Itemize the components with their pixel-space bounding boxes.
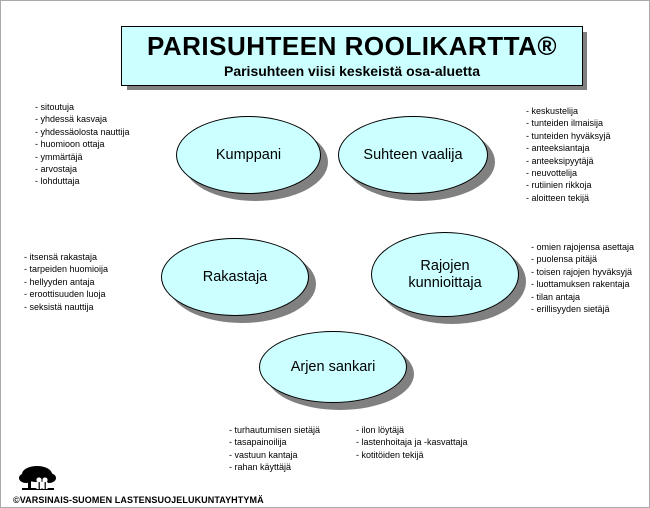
- node-body: Rajojen kunnioittaja: [371, 232, 519, 317]
- list-item: - hellyyden antaja: [24, 276, 108, 288]
- node-kumppani[interactable]: Kumppani: [176, 116, 321, 194]
- list-item: - rahan käyttäjä: [229, 461, 320, 473]
- node-body: Kumppani: [176, 116, 321, 194]
- list-item: - yhdessäolosta nauttija: [35, 126, 130, 138]
- node-rakastaja[interactable]: Rakastaja: [161, 238, 309, 316]
- attribute-list-suhteen-vaalija: - keskustelija- tunteiden ilmaisija- tun…: [526, 105, 611, 204]
- node-suhteen-vaalija[interactable]: Suhteen vaalija: [338, 116, 488, 194]
- list-item: - rutiinien rikkoja: [526, 179, 611, 191]
- title-banner: PARISUHTEEN ROOLIKARTTA® Parisuhteen vii…: [121, 26, 583, 86]
- list-item: - kotitöiden tekijä: [356, 449, 468, 461]
- list-item: - lohduttaja: [35, 175, 130, 187]
- node-body: Rakastaja: [161, 238, 309, 316]
- list-item: - anteeksiantaja: [526, 142, 611, 154]
- list-item: - seksistä nauttija: [24, 301, 108, 313]
- list-item: - ilon löytäjä: [356, 424, 468, 436]
- node-label: Kumppani: [216, 147, 281, 164]
- list-item: - toisen rajojen hyväksyjä: [531, 266, 634, 278]
- page-title: PARISUHTEEN ROOLIKARTTA®: [147, 33, 557, 60]
- list-item: - anteeksipyytäjä: [526, 155, 611, 167]
- attribute-list-rakastaja: - itsensä rakastaja- tarpeiden huomioija…: [24, 251, 108, 313]
- attribute-list-arjen-sankari-col1: - turhautumisen sietäjä- tasapainoilija-…: [229, 424, 320, 474]
- attribute-list-rajojen-kunnioittaja: - omien rajojensa asettaja- puolensa pit…: [531, 241, 634, 315]
- list-item: - luottamuksen rakentaja: [531, 278, 634, 290]
- node-arjen-sankari[interactable]: Arjen sankari: [259, 331, 407, 403]
- node-rajojen-kunnioittaja[interactable]: Rajojen kunnioittaja: [371, 232, 519, 317]
- list-item: - turhautumisen sietäjä: [229, 424, 320, 436]
- list-item: - puolensa pitäjä: [531, 253, 634, 265]
- tree-family-logo-icon: [17, 465, 59, 493]
- list-item: - keskustelija: [526, 105, 611, 117]
- list-item: - yhdessä kasvaja: [35, 113, 130, 125]
- list-item: - tunteiden hyväksyjä: [526, 130, 611, 142]
- list-item: - erillisyyden sietäjä: [531, 303, 634, 315]
- page-subtitle: Parisuhteen viisi keskeistä osa-aluetta: [224, 63, 480, 79]
- node-body: Arjen sankari: [259, 331, 407, 403]
- list-item: - lastenhoitaja ja -kasvattaja: [356, 436, 468, 448]
- list-item: - tilan antaja: [531, 291, 634, 303]
- poster-canvas: PARISUHTEEN ROOLIKARTTA® Parisuhteen vii…: [0, 0, 650, 508]
- list-item: - tasapainoilija: [229, 436, 320, 448]
- list-item: - omien rajojensa asettaja: [531, 241, 634, 253]
- node-label: Rajojen kunnioittaja: [408, 258, 481, 291]
- list-item: - aloitteen tekijä: [526, 192, 611, 204]
- node-label: Rakastaja: [203, 269, 267, 286]
- list-item: - tarpeiden huomioija: [24, 263, 108, 275]
- list-item: - itsensä rakastaja: [24, 251, 108, 263]
- copyright-notice: ©VARSINAIS-SUOMEN LASTENSUOJELUKUNTAYHTY…: [13, 495, 264, 505]
- attribute-list-arjen-sankari-col2: - ilon löytäjä - lastenhoitaja ja -kasva…: [356, 424, 468, 461]
- list-item: - eroottisuuden luoja: [24, 288, 108, 300]
- list-item: - neuvottelija: [526, 167, 611, 179]
- list-item: - vastuun kantaja: [229, 449, 320, 461]
- list-item: - huomioon ottaja: [35, 138, 130, 150]
- node-label: Arjen sankari: [291, 359, 376, 376]
- list-item: - tunteiden ilmaisija: [526, 117, 611, 129]
- node-body: Suhteen vaalija: [338, 116, 488, 194]
- list-item: - ymmärtäjä: [35, 151, 130, 163]
- node-label: Suhteen vaalija: [363, 147, 462, 164]
- list-item: - sitoutuja: [35, 101, 130, 113]
- attribute-list-kumppani: - sitoutuja- yhdessä kasvaja- yhdessäolo…: [35, 101, 130, 188]
- list-item: - arvostaja: [35, 163, 130, 175]
